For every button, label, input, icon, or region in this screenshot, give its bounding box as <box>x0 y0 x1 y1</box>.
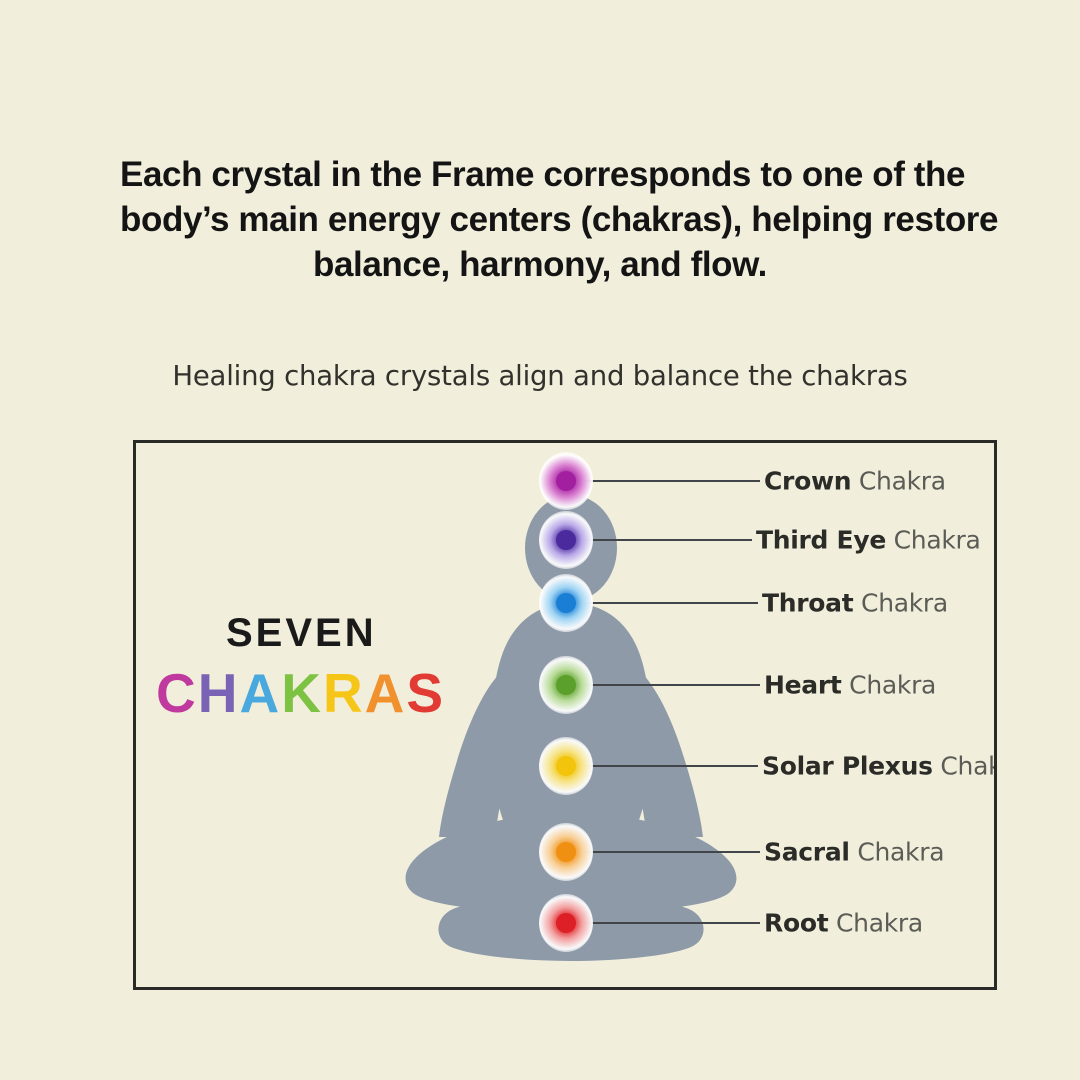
chakra-dot-solar-plexus[interactable] <box>539 737 593 795</box>
chakra-core-2 <box>556 593 576 613</box>
chakra-label-name: Third Eye <box>756 526 886 555</box>
chakra-label-sacral: Sacral Chakra <box>764 838 944 867</box>
chakra-label-third-eye: Third Eye Chakra <box>756 526 981 555</box>
chakras-title-letter-4: R <box>323 661 365 725</box>
chakra-connector-line-4 <box>584 765 758 767</box>
chakra-core-1 <box>556 530 576 550</box>
chakras-title-letter-3: K <box>281 661 323 725</box>
chakra-label-suffix: Chakra <box>886 526 981 555</box>
chakra-connector-line-0 <box>584 480 760 482</box>
chakra-dot-third-eye[interactable] <box>539 511 593 569</box>
chakras-title-letter-1: H <box>198 661 240 725</box>
chakra-label-suffix: Chakra <box>828 909 923 938</box>
seven-title: SEVEN <box>226 611 377 656</box>
chakra-label-suffix: Chakra <box>851 467 946 496</box>
chakra-diagram-frame: SEVEN CHAKRAS Crown ChakraThird Eye Ch <box>133 440 997 990</box>
chakra-label-heart: Heart Chakra <box>764 671 936 700</box>
chakra-core-4 <box>556 756 576 776</box>
chakra-dot-root[interactable] <box>539 894 593 952</box>
chakra-label-suffix: Chakra <box>850 838 945 867</box>
chakra-connector-line-3 <box>584 684 760 686</box>
chakra-dot-heart[interactable] <box>539 656 593 714</box>
headline-line-3: balance, harmony, and flow. <box>120 242 960 287</box>
chakra-dot-throat[interactable] <box>539 574 593 632</box>
chakra-label-crown: Crown Chakra <box>764 467 946 496</box>
page-subtitle: Healing chakra crystals align and balanc… <box>90 360 990 392</box>
chakra-label-suffix: Chakra <box>933 752 997 781</box>
chakra-label-name: Sacral <box>764 838 850 867</box>
chakra-label-name: Throat <box>762 589 853 618</box>
chakra-label-suffix: Chakra <box>853 589 948 618</box>
chakra-core-3 <box>556 675 576 695</box>
chakra-connector-line-6 <box>584 922 760 924</box>
chakra-dot-crown[interactable] <box>539 452 593 510</box>
chakra-connector-line-1 <box>584 539 752 541</box>
chakras-title-letter-0: C <box>156 661 198 725</box>
headline-line-2: body’s main energy centers (chakras), he… <box>120 197 960 242</box>
chakra-label-name: Crown <box>764 467 851 496</box>
chakra-label-name: Root <box>764 909 828 938</box>
chakra-label-solar-plexus: Solar Plexus Chakra <box>762 752 997 781</box>
chakra-label-name: Solar Plexus <box>762 752 933 781</box>
chakra-label-root: Root Chakra <box>764 909 923 938</box>
page-headline: Each crystal in the Frame corresponds to… <box>120 152 960 287</box>
chakra-label-name: Heart <box>764 671 842 700</box>
chakras-title-letter-2: A <box>239 661 281 725</box>
chakra-connector-line-2 <box>584 602 758 604</box>
chakra-core-0 <box>556 471 576 491</box>
chakra-connector-line-5 <box>584 851 760 853</box>
chakra-core-6 <box>556 913 576 933</box>
headline-line-1: Each crystal in the Frame corresponds to… <box>120 152 960 197</box>
chakra-label-throat: Throat Chakra <box>762 589 948 618</box>
chakra-label-suffix: Chakra <box>842 671 937 700</box>
chakra-core-5 <box>556 842 576 862</box>
chakra-dot-sacral[interactable] <box>539 823 593 881</box>
